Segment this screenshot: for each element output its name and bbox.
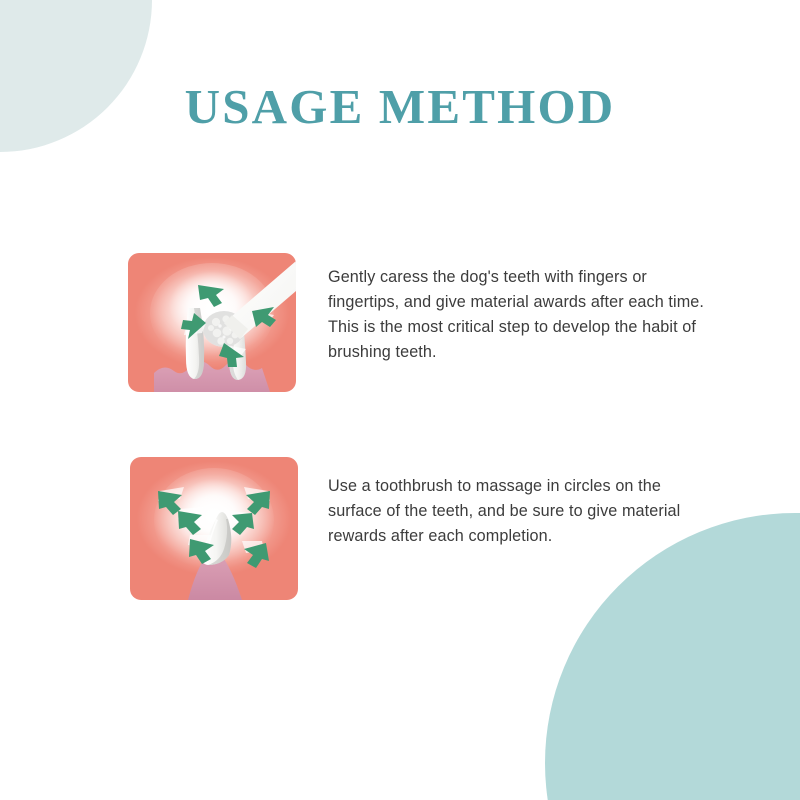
step-1-description: Gently caress the dog's teeth with finge… bbox=[328, 265, 720, 365]
step-row-2: Use a toothbrush to massage in circles o… bbox=[130, 457, 698, 600]
page-title: USAGE METHOD bbox=[0, 82, 800, 131]
page-root: USAGE METHOD bbox=[0, 0, 800, 800]
step-2-description: Use a toothbrush to massage in circles o… bbox=[328, 474, 698, 549]
toothbrush-circular-massage-illustration bbox=[130, 457, 298, 600]
step-row-1: Gently caress the dog's teeth with finge… bbox=[128, 253, 720, 392]
finger-brushing-teeth-illustration bbox=[128, 253, 296, 392]
